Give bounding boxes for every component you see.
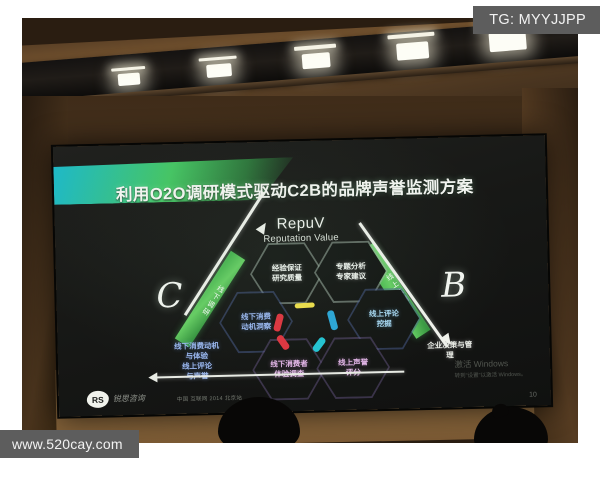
windows-activation-subtitle: 转到"设置"以激活 Windows。 xyxy=(455,370,527,380)
hexagon-label: 线上声誉 评分 xyxy=(338,357,368,378)
watermark-top-right: TG: MYYJJPP xyxy=(473,6,600,34)
letter-b: B xyxy=(441,265,467,306)
photo-inner-frame: 利用O2O调研模式驱动C2B的品牌声誉监测方案 RepuV Reputation… xyxy=(22,18,578,443)
spotlight-bar-1 xyxy=(111,66,145,72)
pill-yellow xyxy=(295,302,315,308)
spotlight-bar-3 xyxy=(294,44,336,51)
watermark-bottom-left: www.520cay.com xyxy=(0,430,139,458)
spotlight-bar-4 xyxy=(387,32,434,40)
letter-c: C xyxy=(156,276,183,317)
conference-photo: 利用O2O调研模式驱动C2B的品牌声誉监测方案 RepuV Reputation… xyxy=(0,0,600,480)
windows-activation-title: 激活 Windows xyxy=(454,357,526,371)
pill-blue-upper xyxy=(327,310,339,331)
logo-mark: RS xyxy=(87,391,109,409)
spotlight-2 xyxy=(206,63,232,78)
footer-logo: RS 锐思咨询 xyxy=(87,390,145,408)
spotlight-1 xyxy=(118,72,141,86)
spotlight-3 xyxy=(302,52,331,69)
spotlight-bar-2 xyxy=(199,56,237,62)
footer-note: 中国 互联网 2014 北京站 xyxy=(177,393,242,403)
bottom-arrow-head xyxy=(148,372,157,382)
hexagon-label: 线下消费者 体验调查 xyxy=(270,359,308,380)
pill-cyan-lower xyxy=(312,336,327,353)
windows-activation-watermark: 激活 Windows 转到"设置"以激活 Windows。 xyxy=(454,357,526,380)
hexagon-label: 线下消费 动机洞察 xyxy=(241,312,271,333)
slide-page-number: 10 xyxy=(529,392,537,399)
hexagon-label: 线上评论 挖掘 xyxy=(369,309,399,330)
spotlight-4 xyxy=(396,41,429,61)
hexagon-label: 经验保证 研究质量 xyxy=(272,263,302,284)
hexagon-label: 专题分析 专家建议 xyxy=(336,261,366,282)
projection-screen: 利用O2O调研模式驱动C2B的品牌声誉监测方案 RepuV Reputation… xyxy=(53,135,551,417)
logo-wordmark: 锐思咨询 xyxy=(113,393,145,405)
